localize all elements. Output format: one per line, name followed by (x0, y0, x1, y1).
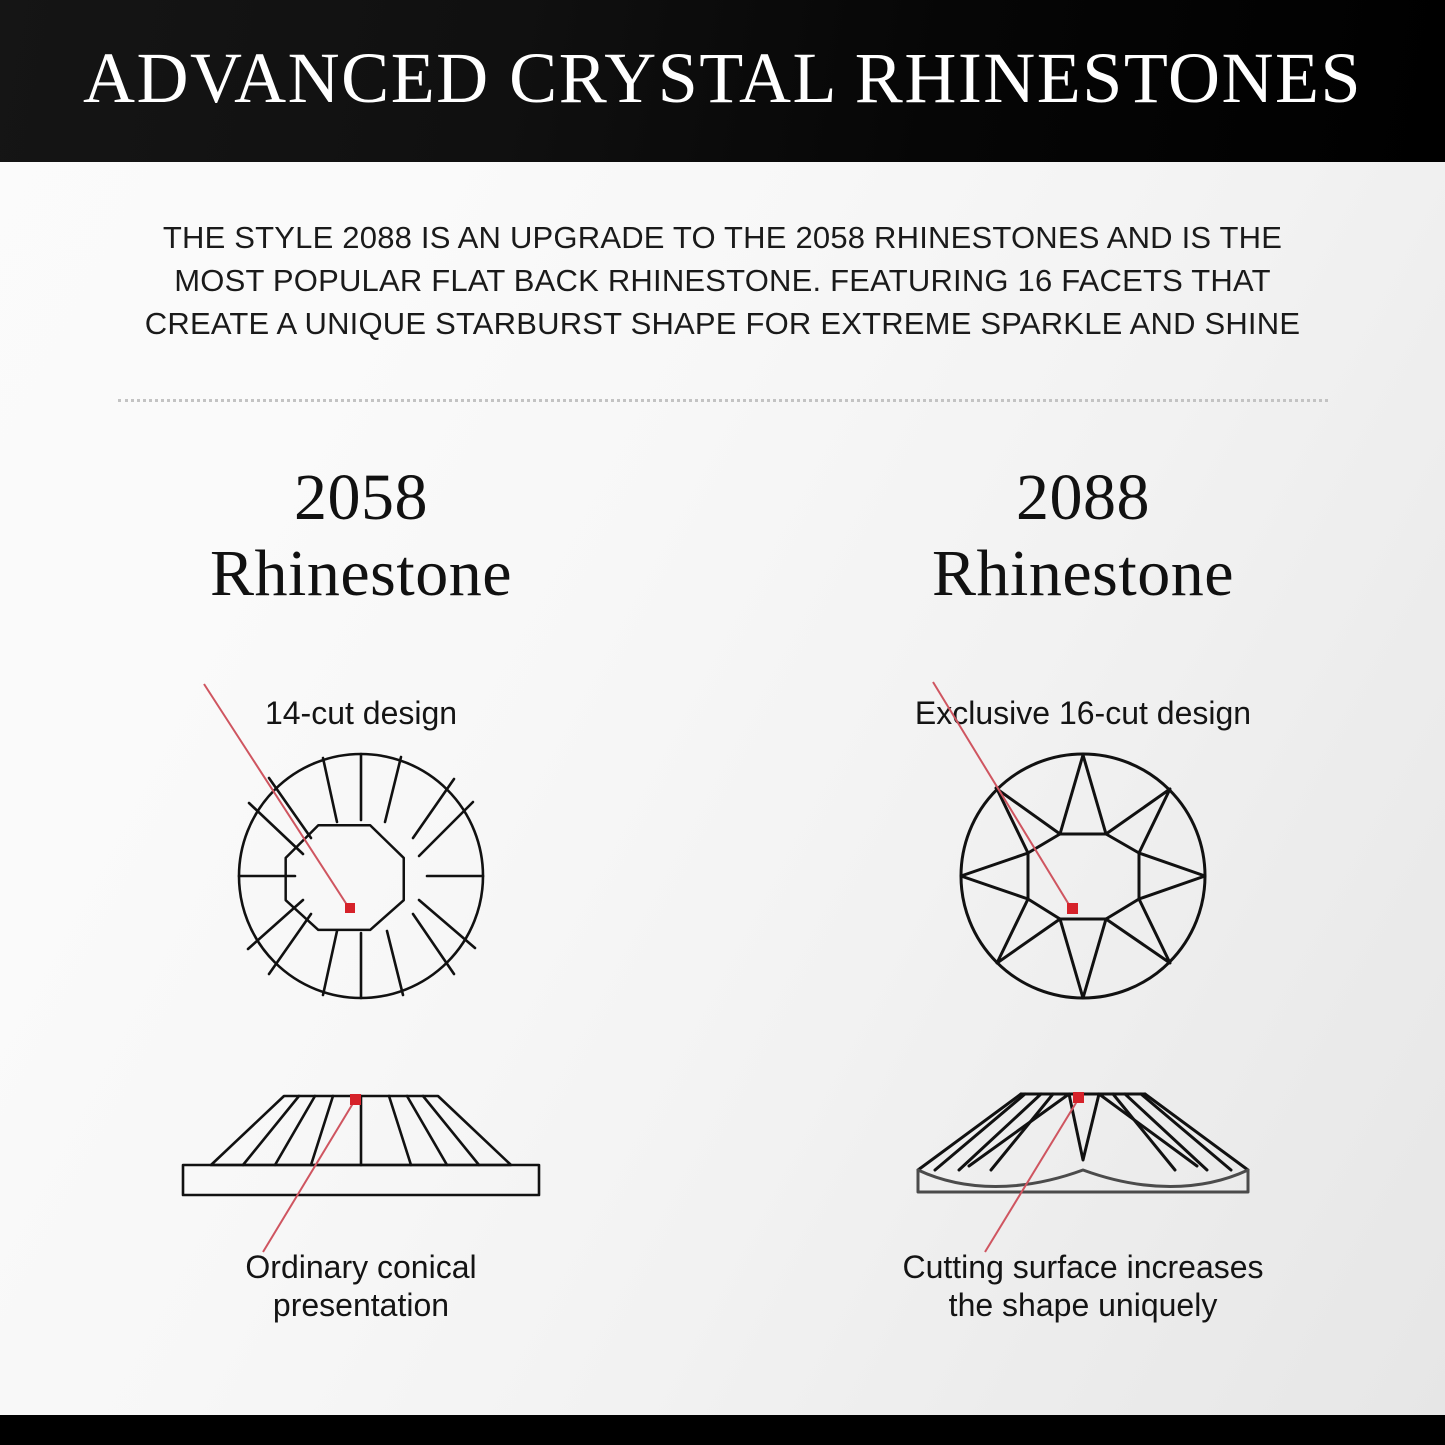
rhinestone-2058-side-profile-svg (151, 1074, 571, 1214)
star-spike (1106, 789, 1170, 853)
rhinestone-2058-top-view-svg (151, 742, 571, 1010)
rhinestone-2088-side-profile-svg (873, 1074, 1293, 1214)
facet-line (413, 914, 454, 974)
caption-2088-line-2: the shape uniquely (902, 1286, 1263, 1324)
caption-2058: Ordinary conical presentation (245, 1248, 476, 1324)
apex-marker-2058-profile (350, 1094, 361, 1105)
page-title: ADVANCED CRYSTAL RHINESTONES (83, 42, 1362, 120)
facet-line (248, 900, 303, 949)
column-2088-title: 2088 Rhinestone (932, 460, 1234, 612)
center-marker-2088-top (1067, 903, 1078, 914)
intro-paragraph: THE STYLE 2088 IS AN UPGRADE TO THE 2058… (72, 216, 1373, 345)
column-2058-title-word: Rhinestone (210, 536, 512, 612)
table-octagon-2058 (286, 826, 404, 931)
star-spike (961, 853, 1028, 899)
cut-design-label-2058: 14-cut design (265, 694, 457, 732)
star-spike (1106, 899, 1170, 963)
footer-bar (0, 1415, 1445, 1445)
facet-line (419, 802, 473, 856)
profile-facet (275, 1096, 315, 1165)
profile-facet (423, 1096, 479, 1165)
base-slab-2088 (918, 1170, 1248, 1192)
rhinestone-2058-side-profile (151, 1074, 571, 1214)
star-spike (1060, 919, 1106, 998)
caption-2088-line-1: Cutting surface increases (902, 1248, 1263, 1286)
facet-line (385, 757, 401, 822)
center-marker-2058-top (345, 903, 355, 913)
facet-line (323, 758, 337, 822)
facet-line (387, 931, 403, 995)
column-2088-title-word: Rhinestone (932, 536, 1234, 612)
intro-line-2: MOST POPULAR FLAT BACK RHINESTONE. FEATU… (72, 259, 1373, 302)
rhinestone-2088-top-view-svg (873, 742, 1293, 1010)
facet-line (323, 931, 337, 995)
center-v-cut (1069, 1094, 1099, 1160)
column-2058-title-number: 2058 (210, 460, 512, 536)
column-2088-title-number: 2088 (932, 460, 1234, 536)
profile-facet (389, 1096, 411, 1165)
intro-line-1: THE STYLE 2088 IS AN UPGRADE TO THE 2058… (72, 216, 1373, 259)
column-2058-title: 2058 Rhinestone (210, 460, 512, 612)
profile-facet (243, 1096, 299, 1165)
base-slab-2058 (183, 1165, 539, 1195)
infographic-root: ADVANCED CRYSTAL RHINESTONES THE STYLE 2… (0, 0, 1445, 1445)
facet-line (413, 779, 454, 838)
table-octagon-2088 (1028, 834, 1139, 919)
scallop-edge-2088 (918, 1170, 1248, 1187)
dotted-divider (118, 399, 1328, 402)
caption-2058-line-1: Ordinary conical (245, 1248, 476, 1286)
apex-marker-2088-profile (1073, 1092, 1084, 1103)
comparison-columns: 2058 Rhinestone 14-cut design (0, 460, 1445, 1324)
rhinestone-2058-top-view (151, 742, 571, 1010)
facet-line (249, 803, 303, 854)
star-spike (1139, 853, 1205, 899)
facet-line (419, 900, 475, 948)
header-banner: ADVANCED CRYSTAL RHINESTONES (0, 0, 1445, 162)
star-spike (997, 789, 1060, 853)
profile-facet (407, 1096, 447, 1165)
rhinestone-2088-top-view (873, 742, 1293, 1010)
star-spike (997, 899, 1060, 963)
caption-2058-line-2: presentation (245, 1286, 476, 1324)
column-2058: 2058 Rhinestone 14-cut design (0, 460, 722, 1324)
column-2088: 2088 Rhinestone Exclusive 16-cut design (722, 460, 1444, 1324)
star-spike (1060, 755, 1106, 834)
cut-design-label-2088: Exclusive 16-cut design (915, 694, 1251, 732)
rhinestone-2088-side-profile (873, 1074, 1293, 1214)
intro-line-3: CREATE A UNIQUE STARBURST SHAPE FOR EXTR… (72, 302, 1373, 345)
caption-2088: Cutting surface increases the shape uniq… (902, 1248, 1263, 1324)
